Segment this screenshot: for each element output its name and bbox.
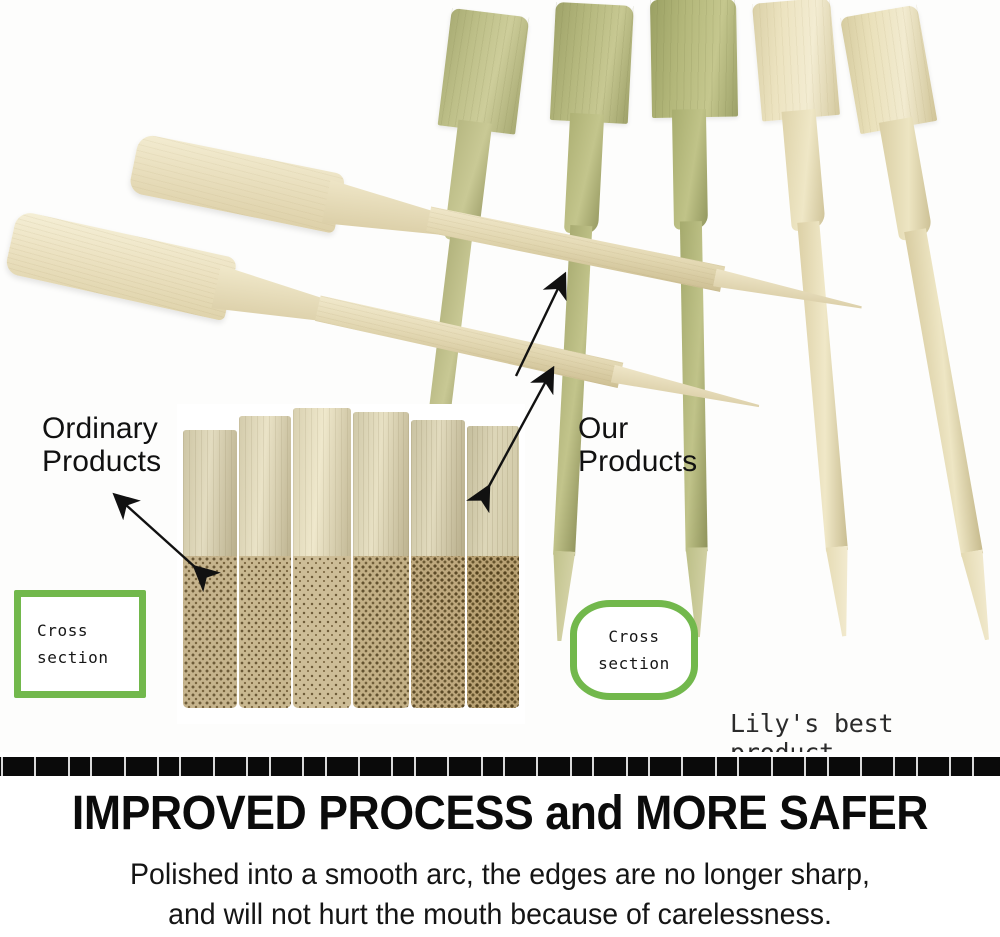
divider-tick [681, 757, 683, 776]
section-divider [0, 757, 1000, 776]
divider-tick [804, 757, 806, 776]
skewer-paddle [550, 2, 634, 124]
stick-side [293, 408, 351, 556]
cross-section-badge-left: Cross section [14, 590, 146, 698]
divider-tick [715, 757, 717, 776]
divider-tick [570, 757, 572, 776]
pore-texture [239, 556, 291, 708]
brand-caption: Lily's best product [730, 709, 1000, 752]
divider-tick [179, 757, 181, 776]
divider-tick [626, 757, 628, 776]
divider-tick [391, 757, 393, 776]
grain-texture [293, 408, 351, 556]
grain-texture [438, 8, 530, 135]
divider-tick [972, 757, 974, 776]
divider-tick [592, 757, 594, 776]
divider-tick [916, 757, 918, 776]
skewer-paddle [128, 133, 346, 234]
grain-texture [239, 416, 291, 556]
stick-end-grain [353, 556, 409, 708]
label-ordinary-line2: Products [42, 445, 161, 478]
divider-tick [68, 757, 70, 776]
divider-tick [949, 757, 951, 776]
skewer-tip [713, 269, 864, 317]
divider-tick [358, 757, 360, 776]
label-ordinary-products: Ordinary Products [42, 412, 161, 478]
divider-tick [1, 757, 3, 776]
footer-subcopy-line1: Polished into a smooth arc, the edges ar… [25, 855, 975, 895]
stick-side [411, 420, 465, 556]
skewer-tip [961, 549, 998, 641]
divider-tick [213, 757, 215, 776]
divider-tick [302, 757, 304, 776]
stick-end-grain [467, 556, 519, 708]
skewer-neck [782, 109, 826, 232]
grain-texture [411, 420, 465, 556]
divider-tick [90, 757, 92, 776]
stick-end-grain [293, 556, 351, 708]
cross-section-right-line1: Cross [608, 623, 659, 650]
divider-tick [648, 757, 650, 776]
label-our-products: Our Products [578, 412, 697, 478]
divider-tick [827, 757, 829, 776]
divider-tick [481, 757, 483, 776]
divider-tick [893, 757, 895, 776]
grain-texture [4, 210, 238, 321]
cross-section-right-line2: section [598, 650, 670, 677]
skewer-paddle [840, 4, 937, 134]
bamboo-stick-4 [353, 412, 409, 708]
label-ordinary-line1: Ordinary [42, 412, 161, 445]
divider-tick [536, 757, 538, 776]
skewer-paddle [438, 8, 530, 135]
skewer-shaft [797, 221, 848, 552]
divider-tick [34, 757, 36, 776]
stick-side [353, 412, 409, 556]
grain-texture [353, 412, 409, 556]
grain-texture [650, 0, 738, 118]
footer-headline: IMPROVED PROCESS and MORE SAFER [35, 786, 965, 841]
divider-tick [246, 757, 248, 776]
divider-tick [737, 757, 739, 776]
label-our-line1: Our [578, 412, 697, 445]
skewer-paddle [650, 0, 738, 118]
grain-texture [128, 133, 346, 234]
pore-texture [353, 556, 409, 708]
skewer-paddle [4, 210, 238, 321]
skewer-paddle [752, 0, 840, 122]
divider-tick [771, 757, 773, 776]
bamboo-stick-2 [239, 416, 291, 708]
stick-end-grain [411, 556, 465, 708]
grain-texture [550, 2, 634, 124]
divider-tick [503, 757, 505, 776]
footer-subcopy: Polished into a smooth arc, the edges ar… [25, 855, 975, 935]
stick-side [239, 416, 291, 556]
divider-tick [124, 757, 126, 776]
divider-tick [860, 757, 862, 776]
cross-section-left-line1: Cross [37, 617, 123, 644]
divider-tick [157, 757, 159, 776]
divider-tick [447, 757, 449, 776]
our-products-upper-pointer-arrow [502, 262, 612, 382]
bamboo-stick-5 [411, 420, 465, 708]
label-our-line2: Products [578, 445, 697, 478]
product-banner: Ordinary Products Our Products [0, 0, 1000, 937]
bamboo-stick-3 [293, 408, 351, 708]
hero-photo: Ordinary Products Our Products [0, 0, 1000, 752]
divider-tick [414, 757, 416, 776]
pore-texture [411, 556, 465, 708]
stick-end-grain [239, 556, 291, 708]
cross-section-left-line2: section [37, 644, 123, 671]
pore-texture [467, 556, 519, 708]
skewer-tip [826, 546, 856, 638]
grain-texture [752, 0, 840, 122]
divider-tick [325, 757, 327, 776]
skewer-neck [879, 117, 933, 241]
pore-texture [293, 556, 351, 708]
footer-subcopy-line2: and will not hurt the mouth because of c… [25, 895, 975, 935]
skewer-neck [672, 109, 708, 230]
grain-texture [840, 4, 937, 134]
skewer-neck [564, 113, 604, 235]
cross-section-badge-right: Cross section [570, 600, 698, 700]
skewer-shaft [904, 228, 983, 557]
divider-tick [269, 757, 271, 776]
ordinary-pointer-arrow [100, 480, 220, 590]
